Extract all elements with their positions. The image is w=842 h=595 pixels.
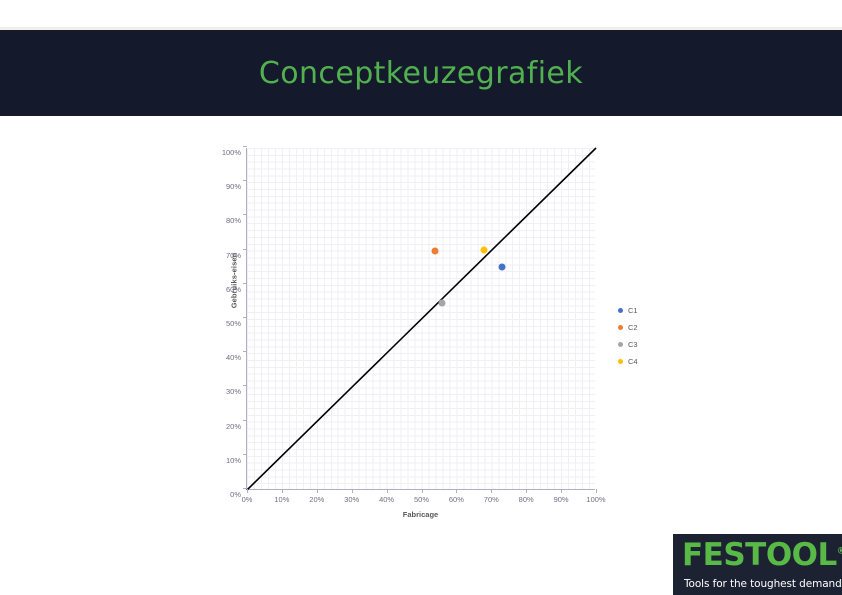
legend-marker-icon (618, 325, 623, 330)
festool-wordmark: FESTOOL® (682, 540, 842, 571)
x-tick-label: 60% (449, 495, 464, 504)
x-tick-label: 30% (344, 495, 359, 504)
data-point-c4[interactable] (481, 246, 488, 253)
x-tick-mark (596, 489, 597, 493)
y-tick-mark (243, 454, 247, 455)
x-tick-label: 20% (309, 495, 324, 504)
y-tick-mark (243, 317, 247, 318)
diagonal-reference-line (247, 148, 596, 490)
x-tick-label: 10% (274, 495, 289, 504)
x-tick-mark (352, 489, 353, 493)
x-tick-mark (282, 489, 283, 493)
festool-wordmark-text: FESTOOL (682, 537, 837, 573)
plot-wrap: 0%10%20%30%40%50%60%70%80%90%100% 0%10%2… (246, 148, 595, 490)
x-tick-label: 80% (519, 495, 534, 504)
legend-marker-icon (618, 308, 623, 313)
data-point-c3[interactable] (439, 299, 446, 306)
concept-selection-scatter-chart: Gebruiks-eisen 0%10%20%30%40%50%60%70%80… (198, 138, 618, 528)
y-tick-mark (243, 351, 247, 352)
slide-title-band: Conceptkeuzegrafiek (0, 30, 842, 116)
y-tick-mark (243, 214, 247, 215)
data-point-c1[interactable] (498, 263, 505, 270)
x-tick-mark (456, 489, 457, 493)
y-tick-mark (243, 420, 247, 421)
y-tick-mark (243, 283, 247, 284)
x-tick-label: 0% (242, 495, 253, 504)
x-tick-label: 50% (414, 495, 429, 504)
x-tick-label: 90% (554, 495, 569, 504)
legend-label: C2 (628, 323, 638, 332)
plot-area: 0%10%20%30%40%50%60%70%80%90%100% 0%10%2… (246, 148, 595, 490)
x-axis-title: Fabricage (246, 510, 595, 519)
y-tick-mark (243, 249, 247, 250)
x-tick-mark (422, 489, 423, 493)
legend-label: C4 (628, 357, 638, 366)
legend-marker-icon (618, 359, 623, 364)
legend-marker-icon (618, 342, 623, 347)
data-point-c2[interactable] (432, 248, 439, 255)
page-title: Conceptkeuzegrafiek (259, 56, 583, 91)
x-tick-mark (317, 489, 318, 493)
festool-tagline: Tools for the toughest demands (684, 578, 842, 590)
registered-trademark-icon: ® (837, 547, 842, 557)
y-tick-mark (243, 385, 247, 386)
chart-legend: C1C2C3C4 (618, 302, 678, 370)
x-tick-mark (387, 489, 388, 493)
y-tick-mark (243, 180, 247, 181)
legend-label: C3 (628, 340, 638, 349)
legend-label: C1 (628, 306, 638, 315)
x-tick-mark (561, 489, 562, 493)
x-tick-mark (526, 489, 527, 493)
legend-item-c2[interactable]: C2 (618, 319, 678, 336)
legend-item-c4[interactable]: C4 (618, 353, 678, 370)
festool-logo: FESTOOL® Tools for the toughest demands (673, 534, 842, 595)
x-tick-label: 40% (379, 495, 394, 504)
x-tick-mark (491, 489, 492, 493)
legend-item-c3[interactable]: C3 (618, 336, 678, 353)
legend-item-c1[interactable]: C1 (618, 302, 678, 319)
x-tick-label: 100% (586, 495, 605, 504)
x-tick-mark (247, 489, 248, 493)
x-tick-label: 70% (484, 495, 499, 504)
y-tick-mark (243, 146, 247, 147)
